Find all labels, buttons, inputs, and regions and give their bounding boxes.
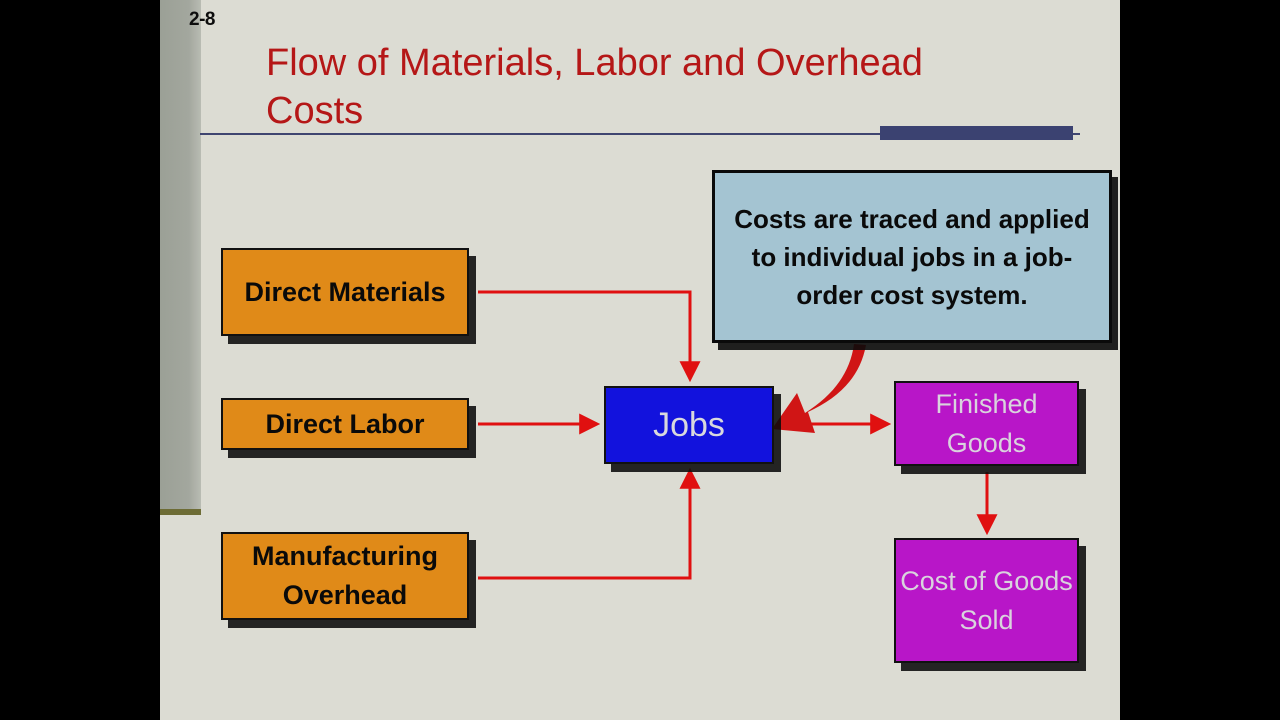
- slide-number: 2-8: [189, 9, 215, 31]
- slide-viewer: 2-8 Flow of Materials, Labor and Overhea…: [0, 0, 1280, 720]
- flow-box-finished-goods[interactable]: Finished Goods: [894, 381, 1079, 466]
- flow-box-finished-goods-label: Finished Goods: [896, 385, 1077, 463]
- flow-box-direct-materials-label: Direct Materials: [223, 273, 467, 312]
- flow-box-cost-of-goods-sold[interactable]: Cost of Goods Sold: [894, 538, 1079, 663]
- presentation-slide: 2-8 Flow of Materials, Labor and Overhea…: [160, 0, 1120, 720]
- flow-box-cost-of-goods-sold-label: Cost of Goods Sold: [896, 562, 1077, 640]
- flow-box-manufacturing-overhead[interactable]: Manufacturing Overhead: [221, 532, 469, 620]
- header-accent-bar: [880, 126, 1073, 140]
- flow-box-manufacturing-overhead-label: Manufacturing Overhead: [223, 537, 467, 615]
- slide-sidebar-band-accent: [160, 509, 201, 515]
- callout-box-text: Costs are traced and applied to individu…: [725, 200, 1099, 314]
- flow-box-direct-labor[interactable]: Direct Labor: [221, 398, 469, 450]
- callout-box: Costs are traced and applied to individu…: [712, 170, 1112, 343]
- flow-box-jobs-label: Jobs: [606, 405, 772, 445]
- connector-manufacturing-overhead-to-jobs: [478, 472, 690, 578]
- flow-box-direct-labor-label: Direct Labor: [223, 407, 467, 441]
- flow-box-direct-materials[interactable]: Direct Materials: [221, 248, 469, 336]
- page-title: Flow of Materials, Labor and Overhead Co…: [266, 39, 966, 135]
- flow-box-jobs[interactable]: Jobs: [604, 386, 774, 464]
- connector-direct-materials-to-jobs: [478, 292, 690, 378]
- connector-callout-to-jobs: [772, 344, 866, 433]
- slide-sidebar-band: [160, 0, 201, 512]
